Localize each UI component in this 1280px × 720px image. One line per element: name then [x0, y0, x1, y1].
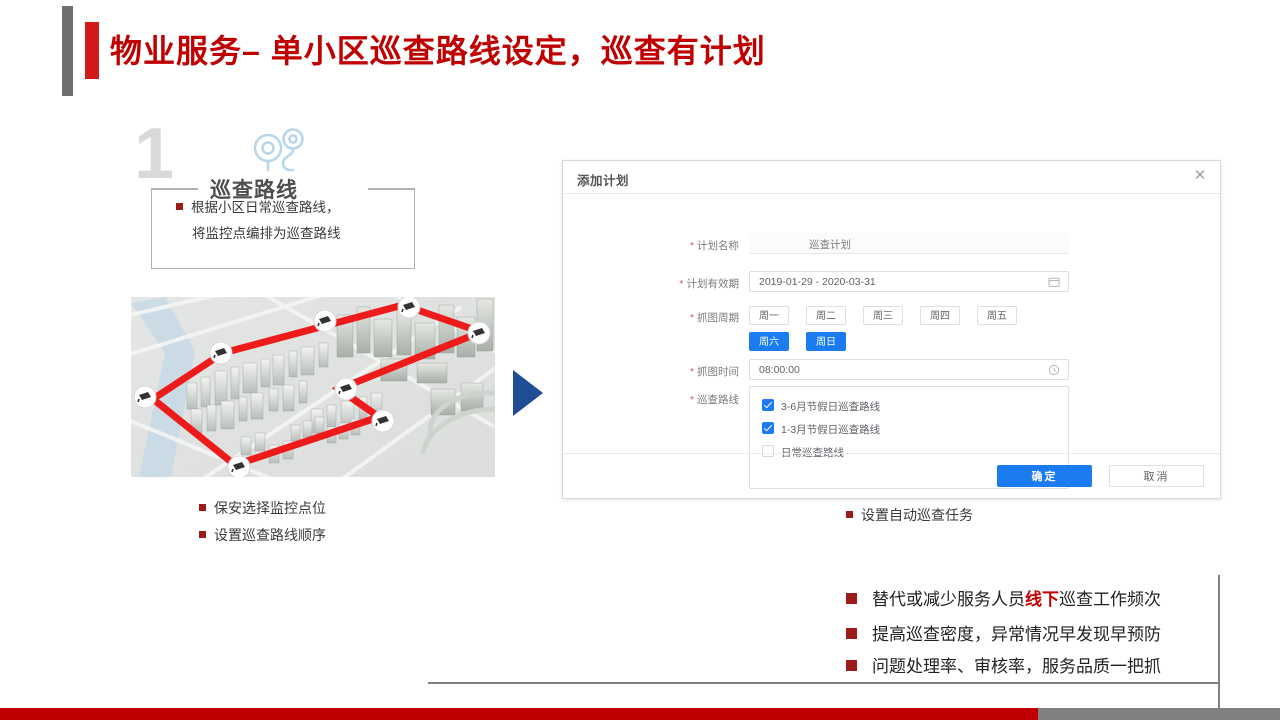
weekday-button-tue[interactable]: 周二 [806, 306, 846, 325]
dialog-footer: 确定 取消 [563, 453, 1220, 498]
capture-time-label: *抓图时间 [627, 364, 739, 379]
bullet-square-icon [199, 504, 206, 511]
plan-name-label-text: 计划名称 [697, 240, 739, 252]
bullet-square-icon [846, 628, 857, 639]
close-icon[interactable]: ✕ [1192, 168, 1208, 184]
add-plan-dialog: 添加计划 ✕ *计划名称 巡查计划 *计划有效期 2019-01-29 - 20… [562, 160, 1221, 499]
valid-period-value: 2019-01-29 - 2020-03-31 [759, 276, 876, 288]
step-number: 1 [134, 118, 174, 190]
right-caption: 设置自动巡查任务 [846, 505, 973, 525]
weekday-button-mon[interactable]: 周一 [749, 306, 789, 325]
footer-red-bar [0, 708, 1038, 720]
weekday-button-wed[interactable]: 周三 [863, 306, 903, 325]
capture-time-label-text: 抓图时间 [697, 366, 739, 378]
valid-period-input[interactable]: 2019-01-29 - 2020-03-31 [749, 271, 1069, 292]
conclusion-2-text: 提高巡查密度，异常情况早发现早预防 [872, 625, 1161, 644]
bullet-square-icon [846, 511, 853, 518]
conclusion-3: 问题处理率、审核率，服务品质一把抓 [846, 652, 1161, 677]
patrol-route-map [131, 297, 495, 477]
plan-name-label: *计划名称 [627, 238, 739, 253]
capture-time-value: 08:00:00 [759, 364, 800, 376]
required-marker: * [679, 278, 683, 290]
plan-name-value: 巡查计划 [809, 237, 851, 252]
route-box-line-2: 将监控点编排为巡查路线 [192, 222, 341, 242]
conclusion-1-pre: 替代或减少服务人员 [872, 590, 1025, 609]
conclusion-2: 提高巡查密度，异常情况早发现早预防 [846, 620, 1161, 645]
header-gray-bar [62, 6, 73, 96]
bullet-square-icon [846, 660, 857, 671]
header-red-bar [85, 22, 99, 79]
bullet-square-icon [176, 203, 183, 210]
weekday-button-sun[interactable]: 周日 [806, 332, 846, 351]
weekday-button-sat[interactable]: 周六 [749, 332, 789, 351]
weekday-button-thu[interactable]: 周四 [920, 306, 960, 325]
required-marker: * [690, 366, 694, 378]
valid-period-label: *计划有效期 [627, 276, 739, 291]
route-pins-icon [250, 126, 308, 176]
required-marker: * [690, 312, 694, 324]
left-bullet-1-text: 保安选择监控点位 [214, 500, 326, 516]
route-checkbox-label-1: 3-6月节假日巡查路线 [781, 399, 880, 414]
footer-horizontal-line [428, 682, 1218, 684]
footer-vertical-line [1218, 575, 1220, 720]
capture-time-input[interactable]: 08:00:00 [749, 359, 1069, 380]
route-box-line-1-text: 根据小区日常巡查路线， [191, 200, 340, 215]
dialog-body: *计划名称 巡查计划 *计划有效期 2019-01-29 - 2020-03-3… [563, 194, 1220, 454]
bullet-square-icon [199, 531, 206, 538]
page-title: 物业服务– 单小区巡查路线设定，巡查有计划 [110, 26, 766, 72]
patrol-routes-label: *巡查路线 [627, 392, 739, 407]
calendar-icon[interactable] [1048, 276, 1060, 288]
capture-period-label: *抓图周期 [627, 310, 739, 325]
checkbox-checked-icon[interactable] [762, 399, 774, 411]
left-bullet-2-text: 设置巡查路线顺序 [214, 527, 326, 543]
required-marker: * [690, 394, 694, 406]
conclusion-1: 替代或减少服务人员线下巡查工作频次 [846, 585, 1161, 610]
checkbox-checked-icon[interactable] [762, 422, 774, 434]
dialog-title: 添加计划 [577, 170, 629, 189]
capture-period-label-text: 抓图周期 [697, 312, 739, 324]
right-caption-text: 设置自动巡查任务 [861, 507, 973, 523]
blue-right-arrow-icon [513, 370, 543, 416]
route-checkbox-label-2: 1-3月节假日巡查路线 [781, 422, 880, 437]
weekday-button-fri[interactable]: 周五 [977, 306, 1017, 325]
conclusion-1-highlight: 线下 [1025, 590, 1059, 609]
required-marker: * [690, 240, 694, 252]
conclusion-1-post: 巡查工作频次 [1059, 590, 1161, 609]
left-bullet-1: 保安选择监控点位 [199, 498, 326, 518]
footer-gray-bar [1038, 708, 1280, 720]
dialog-header: 添加计划 ✕ [563, 161, 1220, 194]
cancel-button[interactable]: 取消 [1109, 465, 1204, 487]
plan-name-input[interactable]: 巡查计划 [749, 233, 1069, 254]
left-bullet-2: 设置巡查路线顺序 [199, 525, 326, 545]
route-box-line-1: 根据小区日常巡查路线， [176, 196, 340, 216]
confirm-button[interactable]: 确定 [997, 465, 1092, 487]
bullet-square-icon [846, 593, 857, 604]
valid-period-label-text: 计划有效期 [687, 278, 740, 290]
clock-icon[interactable] [1048, 364, 1060, 376]
patrol-routes-label-text: 巡查路线 [697, 394, 739, 406]
conclusion-3-text: 问题处理率、审核率，服务品质一把抓 [872, 657, 1161, 676]
